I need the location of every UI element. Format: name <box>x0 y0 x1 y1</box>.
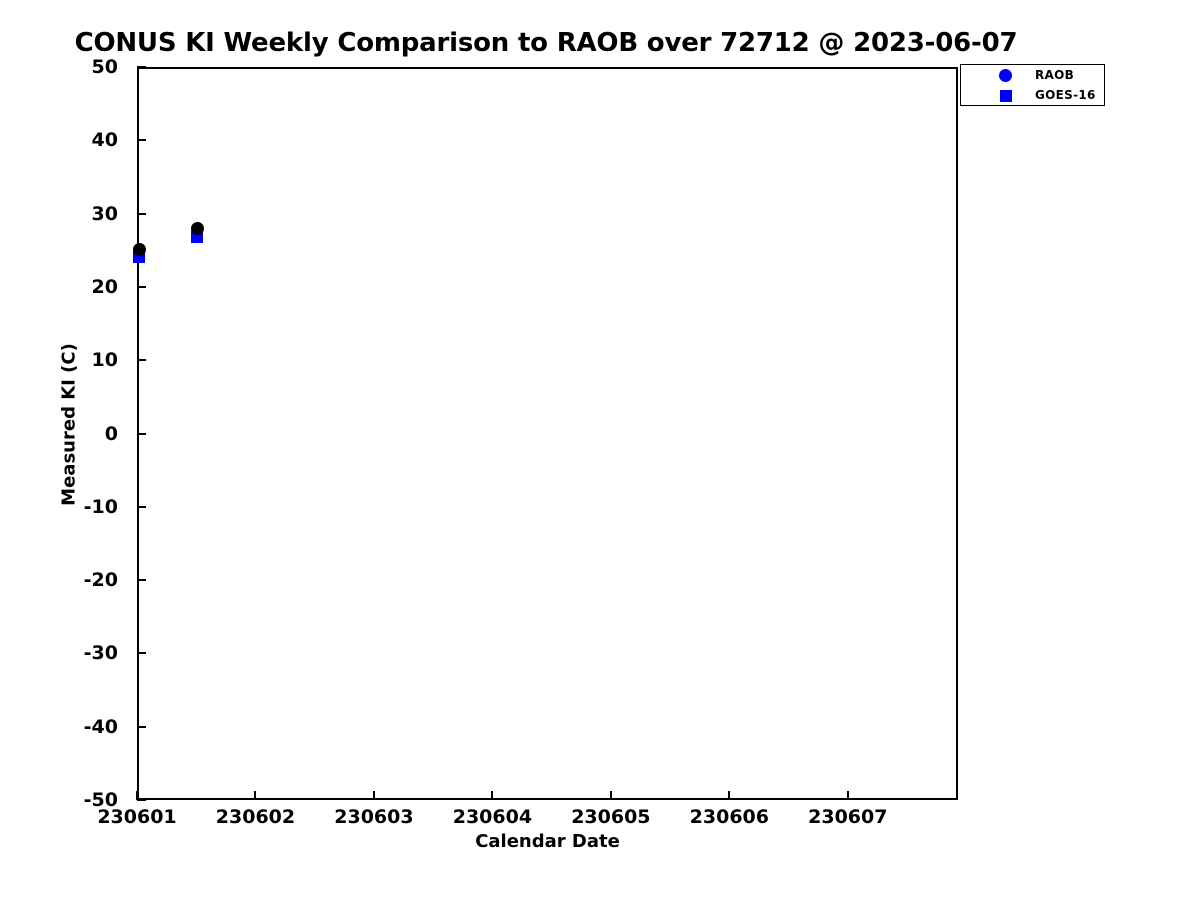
y-tick-label: 40 <box>0 129 128 149</box>
legend-label-goes16: GOES-16 <box>1035 88 1096 102</box>
y-tick-label-text: -10 <box>84 496 118 518</box>
y-tick-label-text: -30 <box>84 642 118 664</box>
legend-entry-goes16: GOES-16 <box>961 85 1106 106</box>
data-point-raob <box>191 222 204 235</box>
y-tick-label-text: 40 <box>92 129 118 151</box>
legend: RAOB GOES-16 <box>960 64 1105 106</box>
x-axis-label: Calendar Date <box>137 831 958 852</box>
y-tick-label: -40 <box>0 716 128 736</box>
y-tick-label-text: 20 <box>92 276 118 298</box>
y-tick-label-text: 30 <box>92 203 118 225</box>
data-point-raob <box>133 243 146 256</box>
y-axis-label: Measured KI (C) <box>59 335 80 515</box>
y-tick-label: 30 <box>0 203 128 223</box>
legend-label-raob: RAOB <box>1035 68 1074 82</box>
x-tick-label: 230607 <box>768 806 928 830</box>
x-tick-label-text: 230607 <box>768 806 928 828</box>
y-tick-label-text: -20 <box>84 569 118 591</box>
chart-title: CONUS KI Weekly Comparison to RAOB over … <box>0 28 1092 58</box>
plot-area <box>137 67 958 800</box>
y-tick-label-text: -40 <box>84 716 118 738</box>
legend-marker-circle-icon <box>995 65 1017 86</box>
y-tick-label-text: 10 <box>92 349 118 371</box>
y-tick-label: 20 <box>0 276 128 296</box>
legend-swatch-goes16 <box>1000 90 1012 102</box>
y-tick-label: -30 <box>0 642 128 662</box>
y-tick-label: -20 <box>0 569 128 589</box>
legend-marker-square-icon <box>995 85 1017 106</box>
data-markers-layer <box>139 69 956 798</box>
y-tick-label: 50 <box>0 56 128 76</box>
y-tick-label-text: 50 <box>92 56 118 78</box>
y-tick-label-text: 0 <box>105 423 118 445</box>
legend-entry-raob: RAOB <box>961 65 1106 86</box>
chart-figure: CONUS KI Weekly Comparison to RAOB over … <box>0 0 1200 900</box>
legend-swatch-raob <box>999 69 1012 82</box>
